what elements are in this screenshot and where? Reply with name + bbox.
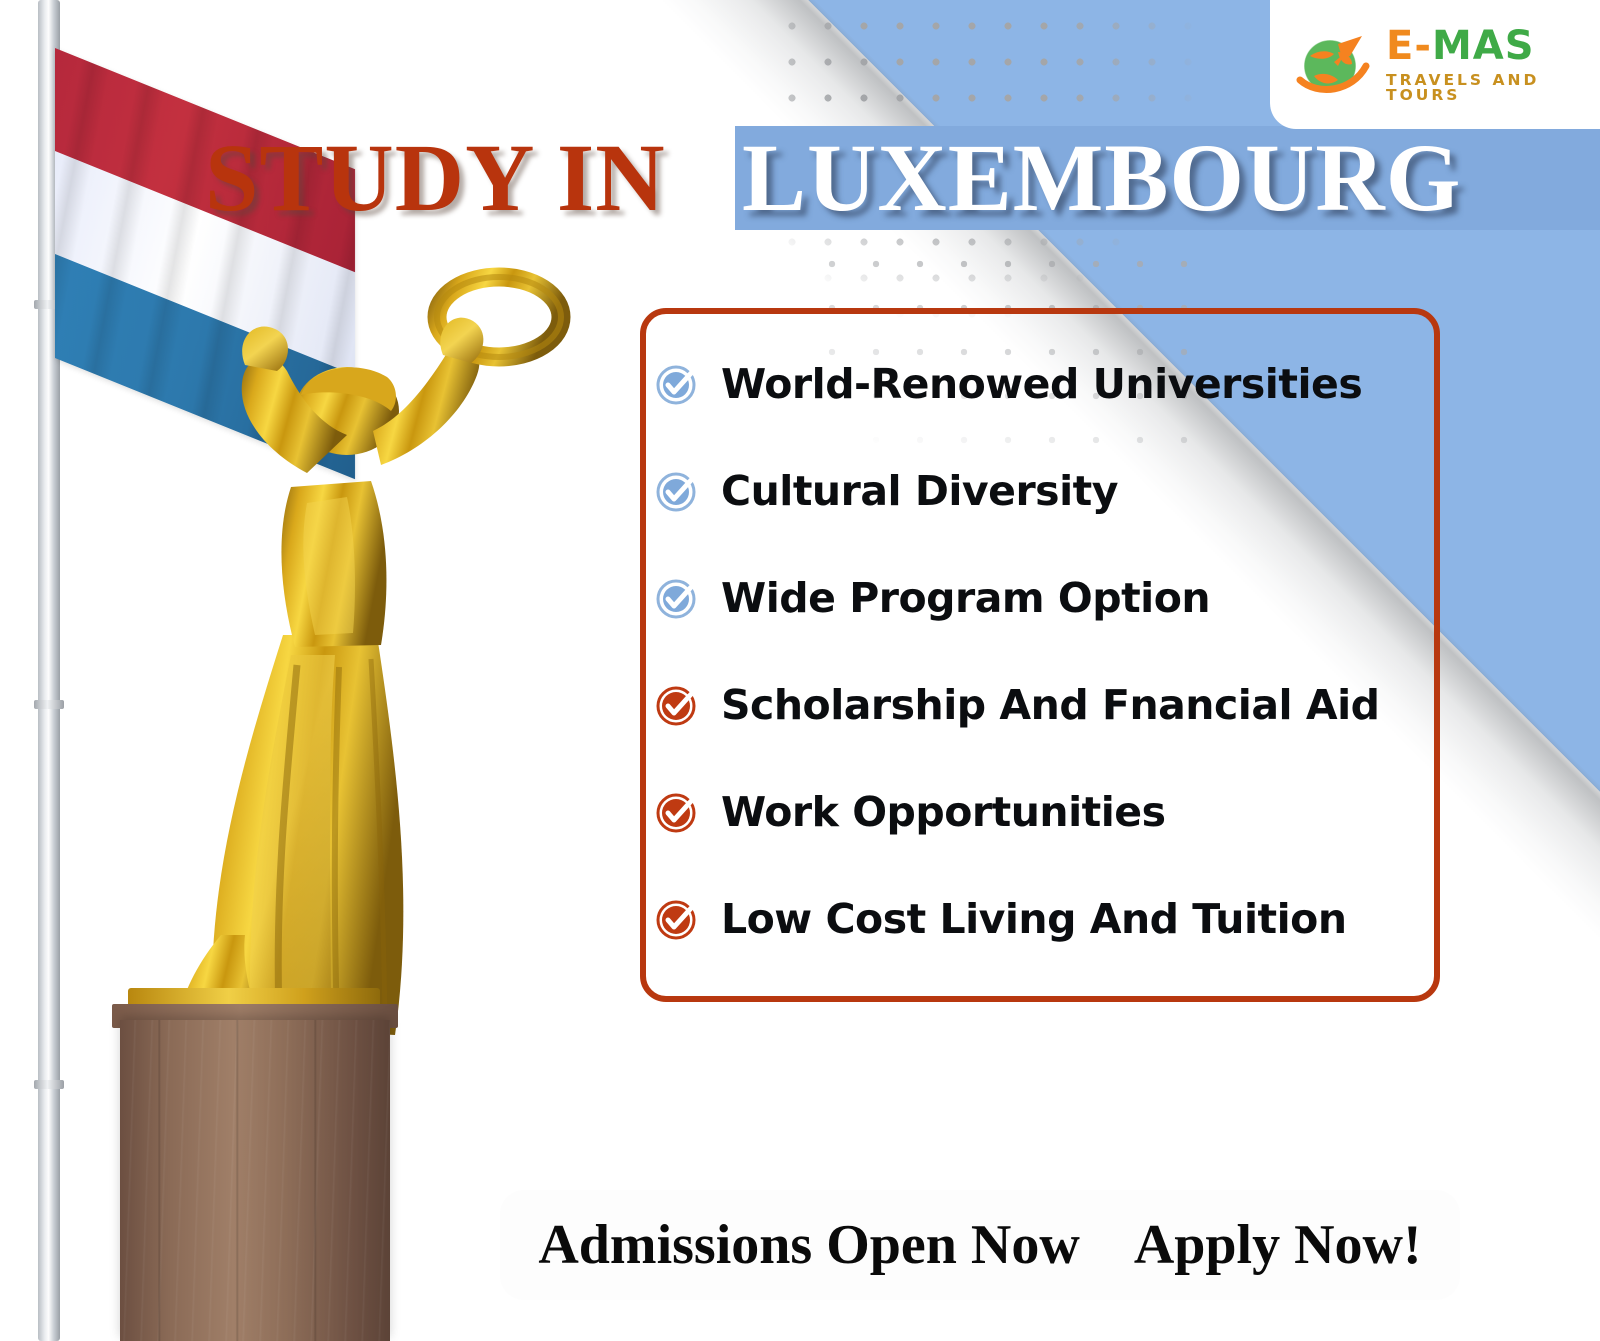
list-item: Scholarship And Fnancial Aid (655, 651, 1445, 758)
logo-name-suffix: MAS (1432, 23, 1535, 69)
flag-pole-joint (34, 700, 64, 709)
check-circle-icon (655, 468, 701, 514)
list-item: Wide Program Option (655, 544, 1445, 651)
list-item: Cultural Diversity (655, 437, 1445, 544)
list-item: World-Renowed Universities (655, 330, 1445, 437)
logo-wordmark: E-MAS TRAVELS AND TOURS (1386, 26, 1600, 104)
poster-canvas: STUDY IN LUXEMBOURG E-MAS TRAVELS AND TO… (0, 0, 1600, 1341)
stone-pedestal (120, 1020, 390, 1341)
check-circle-icon (655, 361, 701, 407)
logo-name: E-MAS (1386, 26, 1600, 66)
cta-banner[interactable]: Admissions Open Now Apply Now! (500, 1190, 1460, 1300)
list-item: Work Opportunities (655, 758, 1445, 865)
logo-tagline: TRAVELS AND TOURS (1386, 73, 1600, 104)
list-item-label: Wide Program Option (721, 574, 1210, 622)
check-circle-icon (655, 682, 701, 728)
globe-airplane-icon (1294, 26, 1372, 104)
list-item-label: Scholarship And Fnancial Aid (721, 681, 1379, 729)
title-luxembourg: LUXEMBOURG (742, 126, 1461, 230)
list-item-label: Cultural Diversity (721, 467, 1118, 515)
flag-pole-joint (34, 1080, 64, 1089)
benefits-list: World-Renowed Universities Cultural Dive… (655, 330, 1445, 972)
list-item: Low Cost Living And Tuition (655, 865, 1445, 972)
apply-now-button[interactable]: Apply Now! (1134, 1213, 1422, 1277)
title-study-in: STUDY IN (205, 126, 666, 230)
golden-lady-statue (95, 235, 595, 1065)
check-circle-icon (655, 789, 701, 835)
admissions-open-text: Admissions Open Now (538, 1213, 1079, 1277)
list-item-label: World-Renowed Universities (721, 360, 1362, 408)
list-item-label: Work Opportunities (721, 788, 1166, 836)
check-circle-icon (655, 896, 701, 942)
poster-title: STUDY IN LUXEMBOURG (0, 126, 1600, 230)
check-circle-icon (655, 575, 701, 621)
logo-name-prefix: E- (1386, 23, 1432, 69)
title-text-layer: STUDY IN LUXEMBOURG (0, 126, 1600, 230)
list-item-label: Low Cost Living And Tuition (721, 895, 1347, 943)
brand-logo[interactable]: E-MAS TRAVELS AND TOURS (1270, 0, 1600, 129)
